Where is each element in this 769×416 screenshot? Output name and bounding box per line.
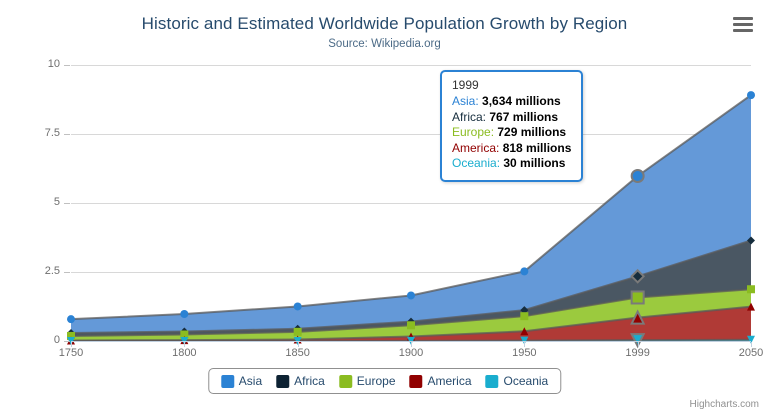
y-axis-label: 2.5 — [16, 266, 60, 277]
area-oceania — [71, 340, 751, 341]
tooltip-header: 1999 — [452, 78, 571, 92]
tooltip-series-name: Africa: — [452, 110, 489, 124]
legend-swatch-icon — [486, 375, 499, 388]
y-gridlines — [71, 66, 751, 273]
line-oceania — [71, 340, 751, 341]
tooltip-row: Oceania: 30 millions — [452, 156, 571, 172]
area-africa — [71, 241, 751, 341]
legend-item-america[interactable]: America — [410, 374, 472, 388]
line-america — [71, 307, 751, 341]
series-tooltip: 1999 Asia: 3,634 millionsAfrica: 767 mil… — [440, 70, 583, 182]
series-areas — [71, 95, 751, 341]
legend-item-europe[interactable]: Europe — [339, 374, 396, 388]
legend-label: Asia — [239, 374, 262, 388]
hamburger-bar-1 — [733, 17, 753, 20]
x-axis-label: 1950 — [494, 347, 554, 359]
tooltip-series-name: Europe: — [452, 125, 497, 139]
legend-label: Africa — [294, 374, 325, 388]
legend-item-asia[interactable]: Asia — [221, 374, 262, 388]
legend-label: Oceania — [504, 374, 549, 388]
chart-title: Historic and Estimated Worldwide Populat… — [0, 14, 769, 34]
tooltip-row: Asia: 3,634 millions — [452, 94, 571, 110]
tooltip-series-value: 818 millions — [503, 141, 572, 155]
tooltip-row: Africa: 767 millions — [452, 110, 571, 126]
legend-swatch-icon — [221, 375, 234, 388]
legend-item-oceania[interactable]: Oceania — [486, 374, 549, 388]
series-markers — [67, 91, 755, 346]
area-asia — [71, 95, 751, 341]
chart-legend: AsiaAfricaEuropeAmericaOceania — [208, 368, 561, 394]
tooltip-series-name: Oceania: — [452, 156, 503, 170]
legend-label: Europe — [357, 374, 396, 388]
tooltip-row: Europe: 729 millions — [452, 125, 571, 141]
x-axis-label: 2050 — [721, 347, 769, 359]
hamburger-bar-3 — [733, 29, 753, 32]
tooltip-series-value: 3,634 millions — [482, 94, 561, 108]
legend-swatch-icon — [410, 375, 423, 388]
highcharts-container: Historic and Estimated Worldwide Populat… — [0, 0, 769, 416]
tooltip-rows: Asia: 3,634 millionsAfrica: 767 millions… — [452, 94, 571, 172]
legend-label: America — [428, 374, 472, 388]
tooltip-series-name: Asia: — [452, 94, 482, 108]
area-america — [71, 307, 751, 341]
y-axis-label: 0 — [16, 335, 60, 346]
series-lines — [71, 95, 751, 341]
line-africa — [71, 241, 751, 334]
chart-subtitle: Source: Wikipedia.org — [0, 38, 769, 50]
legend-item-africa[interactable]: Africa — [276, 374, 325, 388]
legend-swatch-icon — [276, 375, 289, 388]
line-asia — [71, 95, 751, 319]
credits-link[interactable]: Highcharts.com — [690, 399, 759, 410]
tooltip-series-value: 30 millions — [503, 156, 565, 170]
tooltip-row: America: 818 millions — [452, 141, 571, 157]
x-axis-label: 1900 — [381, 347, 441, 359]
hamburger-menu-icon[interactable] — [731, 14, 755, 36]
x-axis-label: 1800 — [154, 347, 214, 359]
y-axis-label: 5 — [16, 197, 60, 208]
tooltip-series-name: America: — [452, 141, 503, 155]
x-axis-label: 1750 — [41, 347, 101, 359]
x-axis-label: 1850 — [268, 347, 328, 359]
tooltip-series-value: 767 millions — [489, 110, 558, 124]
line-europe — [71, 289, 751, 336]
x-axis-label: 1999 — [608, 347, 668, 359]
y-axis-label: 7.5 — [16, 128, 60, 139]
area-europe — [71, 289, 751, 341]
tooltip-series-value: 729 millions — [497, 125, 566, 139]
hamburger-bar-2 — [733, 23, 753, 26]
y-axis-ticks — [64, 66, 70, 342]
legend-swatch-icon — [339, 375, 352, 388]
y-axis-label: 10 — [16, 59, 60, 70]
